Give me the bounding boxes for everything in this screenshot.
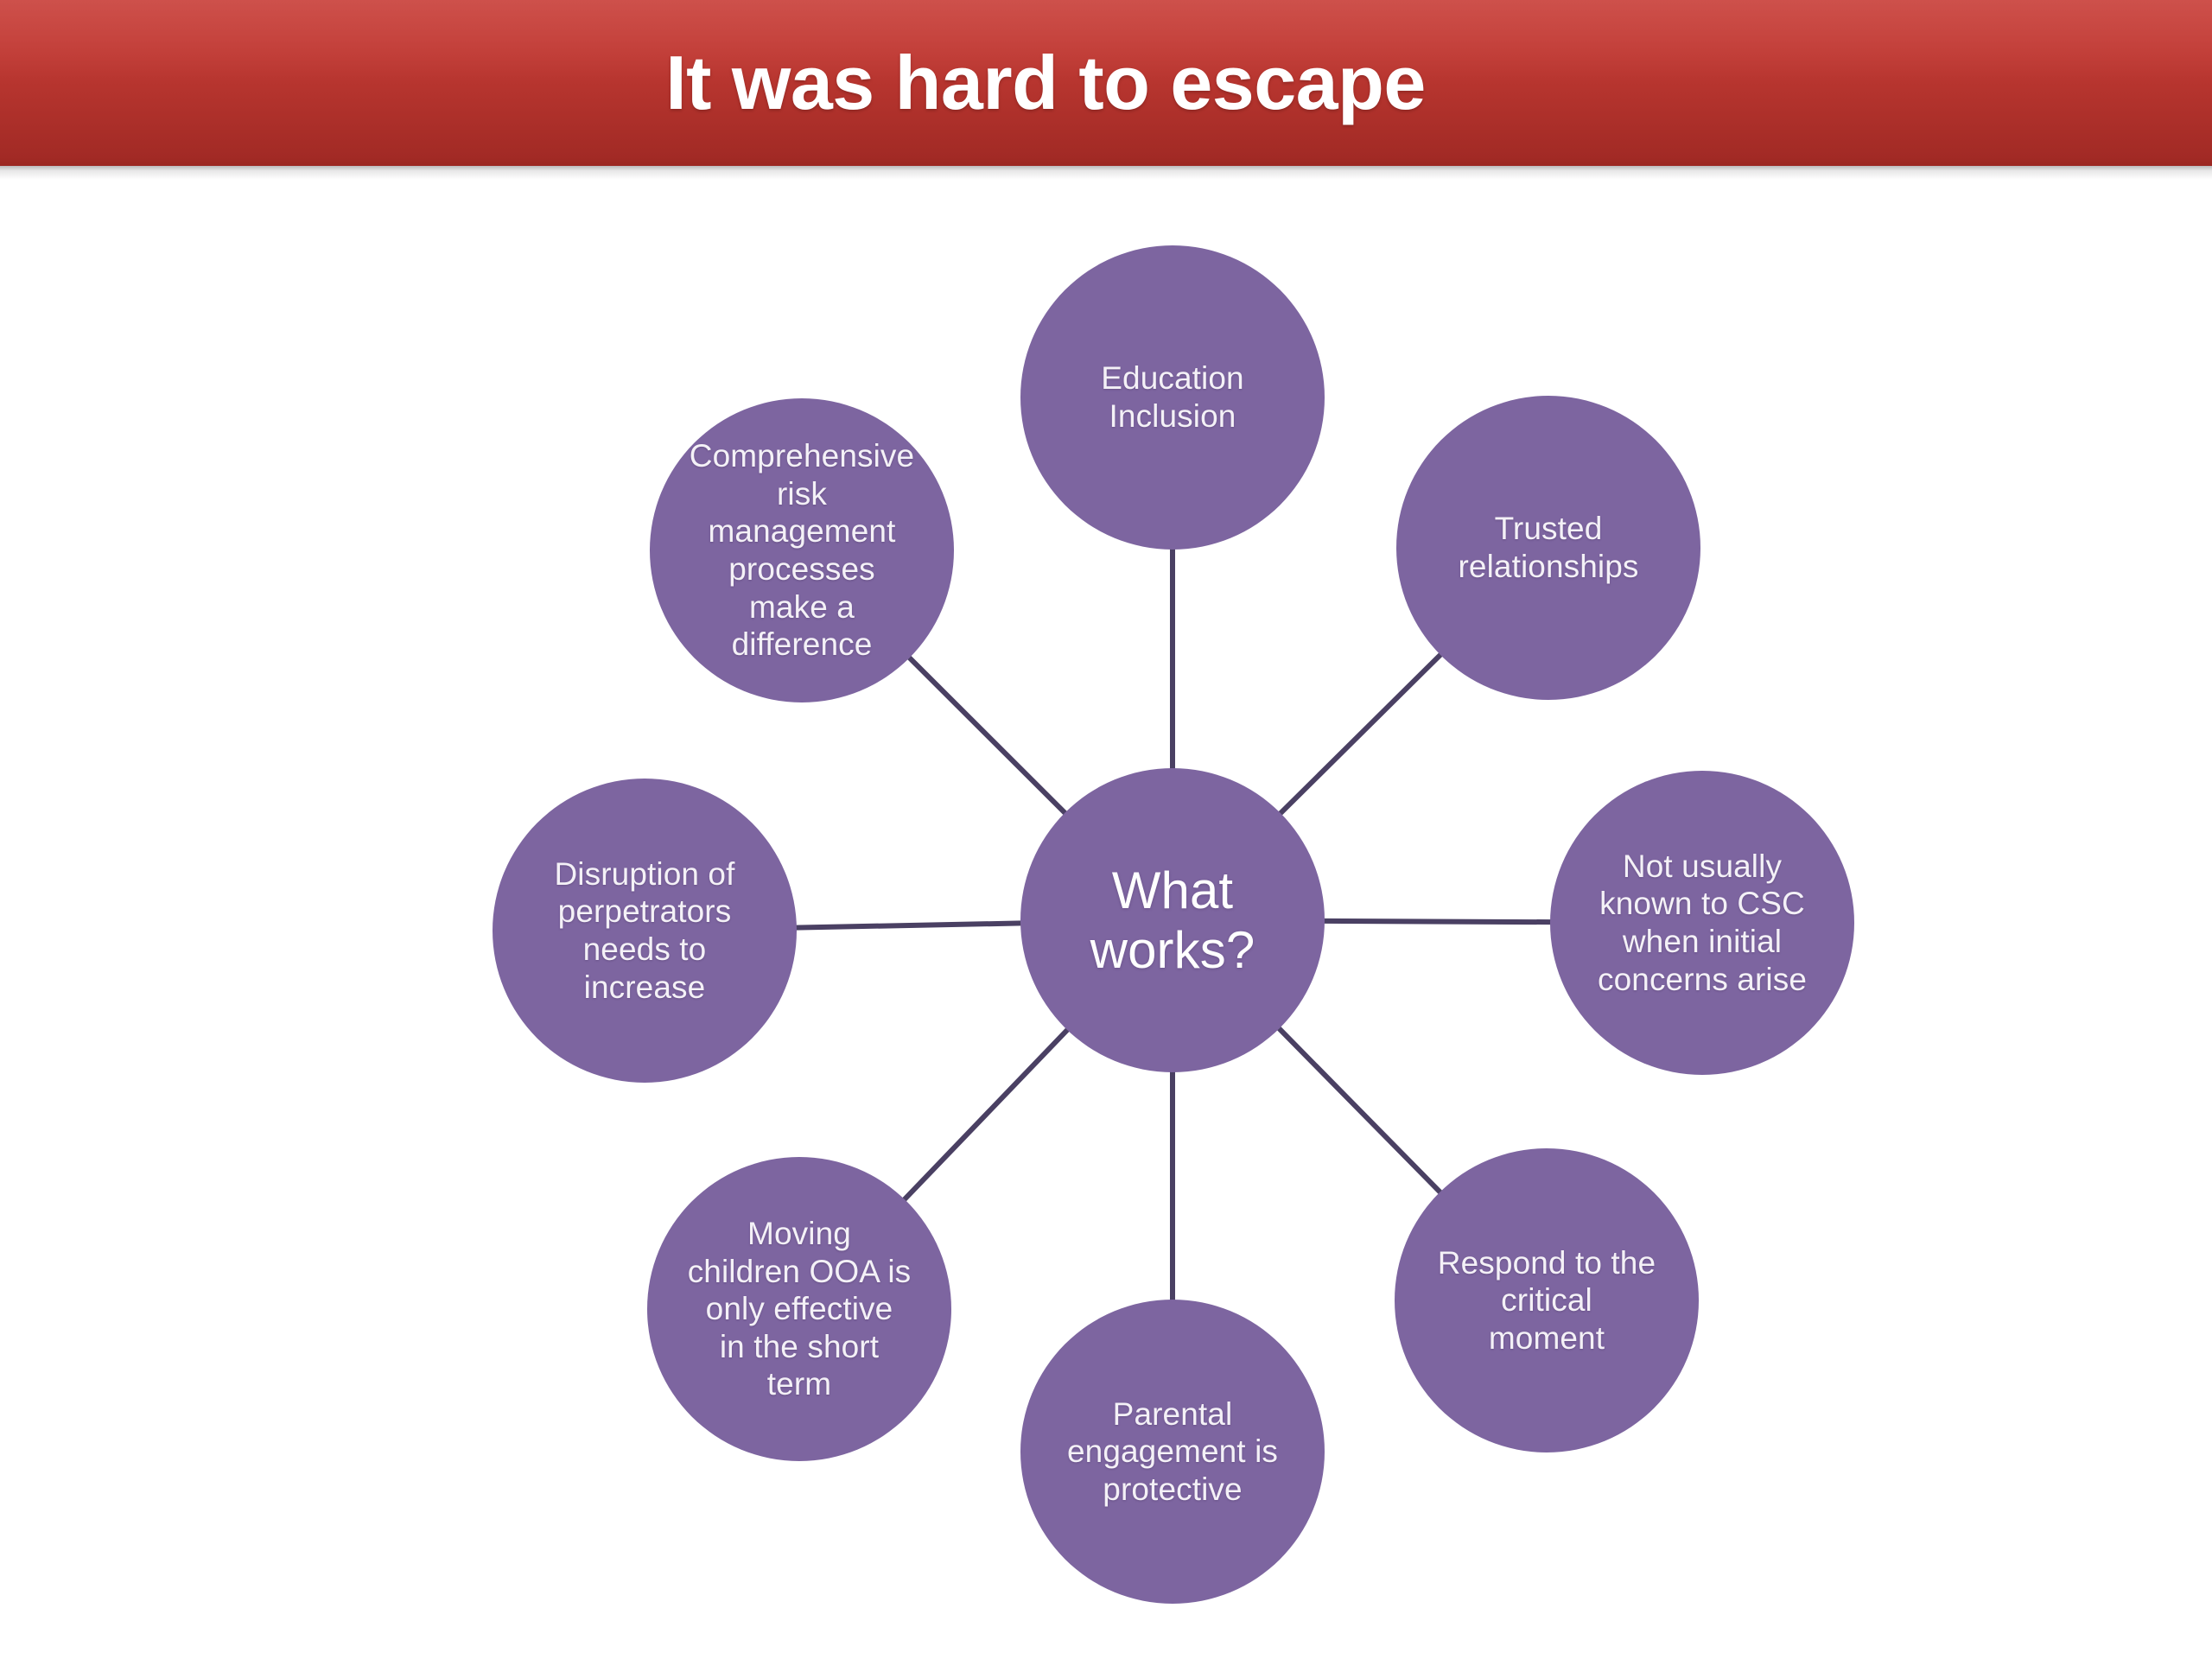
spoke-not-known-to-csc	[1323, 921, 1552, 922]
node-moving-children-ooa[interactable]: Movingchildren OOA isonly effectivein th…	[647, 1157, 951, 1461]
node-trusted-relationships[interactable]: Trustedrelationships	[1396, 396, 1700, 700]
node-label-moving-children-ooa: Movingchildren OOA isonly effectivein th…	[671, 1215, 927, 1403]
node-label-respond-critical-moment: Respond to thecriticalmoment	[1419, 1244, 1675, 1357]
node-label-disruption-of-perpetrators: Disruption ofperpetratorsneeds toincreas…	[517, 855, 772, 1007]
spoke-comprehensive-risk-mgmt	[908, 657, 1066, 814]
spoke-disruption-of-perpetrators	[795, 923, 1022, 927]
spoke-trusted-relationships	[1280, 653, 1442, 814]
node-label-not-known-to-csc: Not usuallyknown to CSCwhen initialconce…	[1574, 848, 1830, 999]
slide-canvas: It was hard to escape EducationInclusion…	[0, 0, 2212, 1659]
node-not-known-to-csc[interactable]: Not usuallyknown to CSCwhen initialconce…	[1550, 771, 1854, 1075]
node-parental-engagement[interactable]: Parentalengagement isprotective	[1020, 1300, 1325, 1604]
spoke-respond-critical-moment	[1278, 1027, 1441, 1193]
node-label-comprehensive-risk-mgmt: Comprehensiveriskmanagementprocessesmake…	[674, 437, 930, 664]
node-respond-critical-moment[interactable]: Respond to thecriticalmoment	[1395, 1148, 1699, 1452]
hub-node[interactable]: What works?	[1020, 768, 1325, 1072]
hub-node-label: What works?	[1045, 861, 1300, 980]
node-education-inclusion[interactable]: EducationInclusion	[1020, 245, 1325, 550]
node-label-parental-engagement: Parentalengagement isprotective	[1045, 1395, 1300, 1509]
node-label-trusted-relationships: Trustedrelationships	[1421, 510, 1676, 585]
spoke-moving-children-ooa	[904, 1029, 1069, 1201]
node-label-education-inclusion: EducationInclusion	[1045, 359, 1300, 435]
node-disruption-of-perpetrators[interactable]: Disruption ofperpetratorsneeds toincreas…	[493, 779, 797, 1083]
node-comprehensive-risk-mgmt[interactable]: Comprehensiveriskmanagementprocessesmake…	[650, 398, 954, 702]
